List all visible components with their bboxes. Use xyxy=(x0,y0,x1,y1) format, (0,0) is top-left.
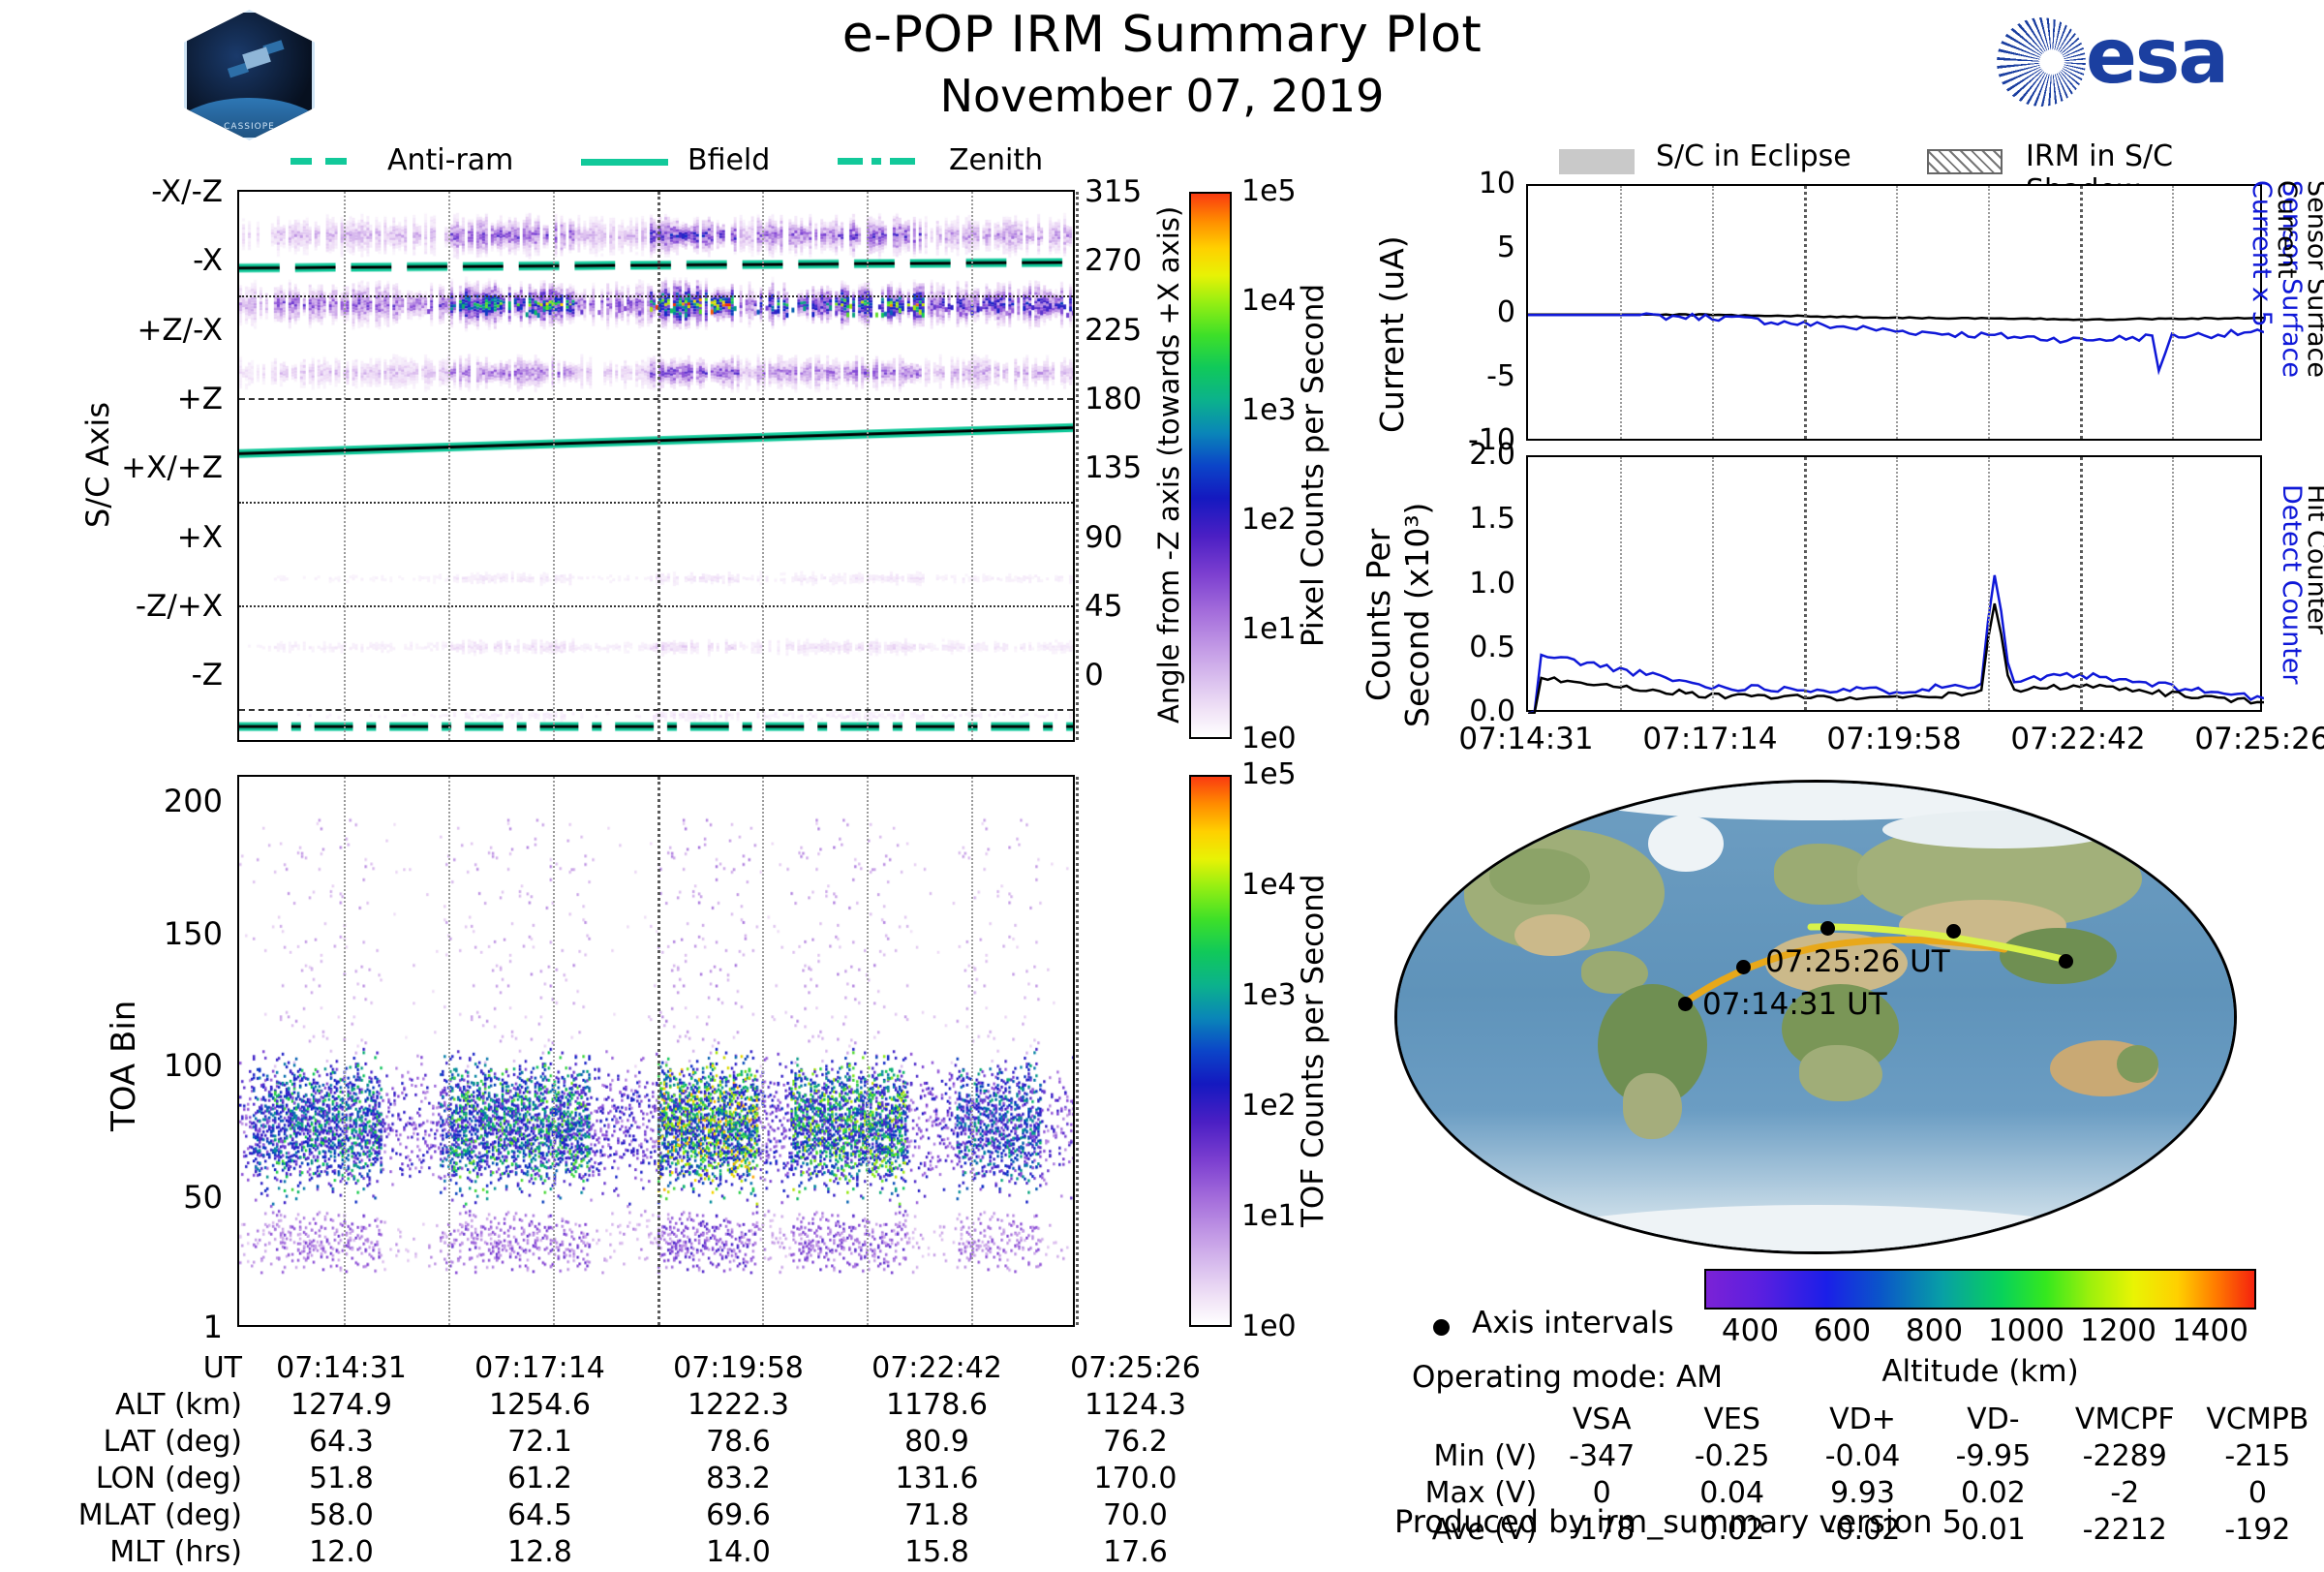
voltage-cell: -0.04 xyxy=(1797,1439,1928,1476)
ephemeris-cell: 1222.3 xyxy=(639,1388,838,1425)
current-right-label-black: Sensor Surface Current xyxy=(2299,180,2324,451)
pixel-colorbar-tick: 1e4 xyxy=(1241,284,1297,318)
axis-intervals-dot-icon xyxy=(1433,1319,1450,1336)
ephemeris-row-label: LAT (deg) xyxy=(58,1425,242,1462)
tof-colorbar-tick: 1e3 xyxy=(1241,978,1297,1012)
spectrogram-image xyxy=(239,192,1073,740)
counts-ytick: 1.0 xyxy=(1409,567,1515,601)
tof-colorbar-tick: 1e4 xyxy=(1241,868,1297,902)
voltage-column-header: VD+ xyxy=(1797,1402,1928,1439)
legend-swatch-shadow xyxy=(1927,149,2003,174)
voltage-cell: -0.25 xyxy=(1667,1439,1797,1476)
legend-swatch-bfield xyxy=(581,159,668,166)
toa-ytick: 1 xyxy=(136,1309,223,1345)
spectrogram-ytick-left: +X xyxy=(58,520,223,555)
voltage-column-header: VSA xyxy=(1537,1402,1667,1439)
ephemeris-cell: 1124.3 xyxy=(1036,1388,1235,1425)
legend-swatch-anti-ram xyxy=(290,151,347,170)
spectrogram-legend: Anti-ram Bfield Zenith xyxy=(290,143,1026,186)
ephemeris-cell: 51.8 xyxy=(242,1462,441,1498)
voltage-cell: -215 xyxy=(2191,1439,2324,1476)
toa-ytick: 50 xyxy=(136,1179,223,1216)
ephemeris-cell: 80.9 xyxy=(838,1425,1036,1462)
current-plot xyxy=(1526,184,2262,441)
tof-counts-colorbar-label: TOF Counts per Second xyxy=(1296,775,1334,1327)
ephemeris-cell: 83.2 xyxy=(639,1462,838,1498)
ephemeris-row-label: MLT (hrs) xyxy=(58,1535,242,1572)
ephemeris-cell: 69.6 xyxy=(639,1498,838,1535)
toa-ytick: 100 xyxy=(136,1047,223,1084)
ephemeris-row-label: MLAT (deg) xyxy=(58,1498,242,1535)
legend-swatch-zenith xyxy=(838,151,915,170)
ephemeris-cell: 17.6 xyxy=(1036,1535,1235,1572)
ephemeris-table: UT07:14:3107:17:1407:19:5807:22:4207:25:… xyxy=(58,1351,1235,1572)
voltage-cell: -347 xyxy=(1537,1439,1667,1476)
track-label-start: 07:14:31 UT xyxy=(1702,987,1887,1022)
ephemeris-cell: 131.6 xyxy=(838,1462,1036,1498)
spacer xyxy=(1394,1402,1537,1439)
spectrogram-ytick-left: +X/+Z xyxy=(58,450,223,485)
spectrogram-ytick-right: 45 xyxy=(1085,589,1152,624)
current-ytick: 10 xyxy=(1409,167,1515,200)
operating-mode-label: Operating mode: AM xyxy=(1412,1360,1723,1395)
pixel-colorbar-tick: 1e5 xyxy=(1241,174,1297,208)
legend-swatch-eclipse xyxy=(1559,149,1635,174)
counts-ytick: 0.5 xyxy=(1409,631,1515,664)
pixel-counts-colorbar-label: Pixel Counts per Second xyxy=(1296,194,1334,736)
ephemeris-cell: 64.3 xyxy=(242,1425,441,1462)
track-point xyxy=(1736,960,1751,974)
track-point-start xyxy=(1678,997,1693,1011)
spectrogram-ytick-left: -Z xyxy=(58,658,223,693)
ephemeris-cell: 170.0 xyxy=(1036,1462,1235,1498)
spectrogram-ytick-left: -Z/+X xyxy=(58,589,223,624)
badge-label: CASSIOPE xyxy=(187,122,312,132)
esa-swirl-icon xyxy=(1997,17,2086,107)
counts-ytick: 2.0 xyxy=(1409,438,1515,472)
ephemeris-cell: 15.8 xyxy=(838,1535,1036,1572)
ephemeris-row-label: ALT (km) xyxy=(58,1388,242,1425)
ephemeris-cell: 07:22:42 xyxy=(838,1351,1036,1388)
altitude-tick: 1200 xyxy=(2070,1313,2167,1348)
ephemeris-cell: 76.2 xyxy=(1036,1425,1235,1462)
footer-produced-by: Produced by irm_summary version 5 xyxy=(1394,1503,1962,1540)
tof-colorbar-tick: 1e1 xyxy=(1241,1199,1297,1233)
page-subtitle: November 07, 2019 xyxy=(0,70,2324,122)
legend-label-eclipse: S/C in Eclipse xyxy=(1656,139,1851,173)
ephemeris-cell: 72.1 xyxy=(441,1425,639,1462)
table-row: LAT (deg)64.372.178.680.976.2 xyxy=(58,1425,1235,1462)
pixel-colorbar-tick: 1e1 xyxy=(1241,612,1297,646)
altitude-colorbar-label: Altitude (km) xyxy=(1704,1354,2256,1389)
ephemeris-cell: 64.5 xyxy=(441,1498,639,1535)
altitude-colorbar xyxy=(1704,1269,2256,1310)
spectrogram-ytick-right: 90 xyxy=(1085,520,1152,555)
altitude-tick: 1400 xyxy=(2162,1313,2259,1348)
counts-ytick: 1.5 xyxy=(1409,502,1515,536)
current-ylabel: Current (uA) xyxy=(1373,194,1412,475)
ephemeris-cell: 12.8 xyxy=(441,1535,639,1572)
table-row: UT07:14:3107:17:1407:19:5807:22:4207:25:… xyxy=(58,1351,1235,1388)
toa-image xyxy=(239,777,1073,1325)
table-row: MLAT (deg)58.064.569.671.870.0 xyxy=(58,1498,1235,1535)
tof-colorbar-tick: 1e2 xyxy=(1241,1089,1297,1123)
table-row: MLT (hrs)12.012.814.015.817.6 xyxy=(58,1535,1235,1572)
tof-colorbar-tick: 1e5 xyxy=(1241,757,1297,791)
current-ytick: -5 xyxy=(1409,359,1515,393)
spectrogram-ytick-right: 225 xyxy=(1085,313,1152,348)
counts-plot xyxy=(1526,455,2262,712)
altitude-tick: 800 xyxy=(1886,1313,1983,1348)
ephemeris-cell: 12.0 xyxy=(242,1535,441,1572)
legend-label-zenith: Zenith xyxy=(949,143,1043,177)
voltage-column-header: VES xyxy=(1667,1402,1797,1439)
ephemeris-cell: 1178.6 xyxy=(838,1388,1036,1425)
ground-track-map: 07:25:26 UT 07:14:31 UT xyxy=(1394,780,2237,1254)
track-label-end: 07:25:26 UT xyxy=(1765,944,1950,979)
table-row: LON (deg)51.861.283.2131.6170.0 xyxy=(58,1462,1235,1498)
altitude-tick: 1000 xyxy=(1978,1313,2075,1348)
right-time-tick: 07:22:42 xyxy=(1996,722,2160,756)
tof-counts-colorbar xyxy=(1189,775,1232,1327)
esa-logo: esa xyxy=(1997,14,2297,110)
pixel-colorbar-tick: 1e3 xyxy=(1241,393,1297,427)
ephemeris-cell: 61.2 xyxy=(441,1462,639,1498)
spectrogram-ytick-right: 0 xyxy=(1085,658,1152,693)
ephemeris-cell: 78.6 xyxy=(639,1425,838,1462)
ephemeris-cell: 58.0 xyxy=(242,1498,441,1535)
ephemeris-cell: 1254.6 xyxy=(441,1388,639,1425)
counts-right-label-black: Hit Counter xyxy=(2299,484,2324,707)
voltage-cell: -2 xyxy=(2059,1476,2191,1513)
shade-legend: S/C in Eclipse IRM in S/C Shadow xyxy=(1559,141,2295,184)
axis-intervals-label: Axis intervals xyxy=(1472,1306,1674,1341)
tof-colorbar-tick: 1e0 xyxy=(1241,1310,1297,1343)
right-time-tick: 07:17:14 xyxy=(1628,722,1792,756)
pixel-counts-colorbar xyxy=(1189,192,1232,739)
ephemeris-row-label: LON (deg) xyxy=(58,1462,242,1498)
spectrogram-ytick-left: -X/-Z xyxy=(58,174,223,209)
voltage-cell: -192 xyxy=(2191,1513,2324,1550)
track-point xyxy=(1820,921,1835,936)
pixel-colorbar-tick: 1e2 xyxy=(1241,503,1297,537)
ephemeris-cell: 14.0 xyxy=(639,1535,838,1572)
ephemeris-cell: 70.0 xyxy=(1036,1498,1235,1535)
spectrogram-ytick-right: 180 xyxy=(1085,382,1152,416)
altitude-tick: 600 xyxy=(1794,1313,1891,1348)
ephemeris-cell: 07:19:58 xyxy=(639,1351,838,1388)
legend-label-bfield: Bfield xyxy=(688,143,770,177)
spectrogram-ytick-right: 135 xyxy=(1085,450,1152,485)
legend-label-anti-ram: Anti-ram xyxy=(387,143,513,177)
ephemeris-cell: 07:14:31 xyxy=(242,1351,441,1388)
altitude-tick: 400 xyxy=(1702,1313,1799,1348)
current-ytick: 5 xyxy=(1409,231,1515,264)
spectrogram-ytick-right: 270 xyxy=(1085,243,1152,278)
cassiope-mission-badge: CASSIOPE xyxy=(184,10,315,140)
spectrogram-ylabel-right: Angle from -Z axis (towards +X axis) xyxy=(1152,194,1191,736)
toa-ytick: 200 xyxy=(136,783,223,819)
voltage-cell: -2289 xyxy=(2059,1439,2191,1476)
voltage-column-header: VCMPB xyxy=(2191,1402,2324,1439)
track-point xyxy=(1946,924,1961,939)
ephemeris-row-label: UT xyxy=(58,1351,242,1388)
right-time-tick: 07:25:26 xyxy=(2180,722,2324,756)
esa-wordmark: esa xyxy=(2086,19,2227,95)
current-ytick: 0 xyxy=(1409,295,1515,329)
voltage-cell: -9.95 xyxy=(1928,1439,2059,1476)
track-point-end xyxy=(2059,954,2073,969)
spectrogram-ytick-left: +Z/-X xyxy=(58,313,223,348)
ephemeris-cell: 07:25:26 xyxy=(1036,1351,1235,1388)
table-header-row: VSAVESVD+VD-VMCPFVCMPB xyxy=(1394,1402,2324,1439)
ephemeris-cell: 71.8 xyxy=(838,1498,1036,1535)
right-time-tick: 07:14:31 xyxy=(1444,722,1608,756)
spectrogram-ytick-left: -X xyxy=(58,243,223,278)
right-time-tick: 07:19:58 xyxy=(1812,722,1976,756)
table-row: Min (V)-347-0.25-0.04-9.95-2289-215 xyxy=(1394,1439,2324,1476)
ephemeris-cell: 1274.9 xyxy=(242,1388,441,1425)
table-row: ALT (km)1274.91254.61222.31178.61124.3 xyxy=(58,1388,1235,1425)
pixel-colorbar-tick: 1e0 xyxy=(1241,722,1297,755)
voltage-column-header: VD- xyxy=(1928,1402,2059,1439)
toa-ytick: 150 xyxy=(136,915,223,952)
spectrogram-plot xyxy=(237,190,1075,742)
voltage-cell: -2212 xyxy=(2059,1513,2191,1550)
voltage-cell: 0 xyxy=(2191,1476,2324,1513)
toa-plot xyxy=(237,775,1075,1327)
page-title: e-POP IRM Summary Plot xyxy=(0,6,2324,64)
ephemeris-cell: 07:17:14 xyxy=(441,1351,639,1388)
spectrogram-ytick-left: +Z xyxy=(58,382,223,416)
spectrogram-ytick-right: 315 xyxy=(1085,174,1152,209)
voltage-column-header: VMCPF xyxy=(2059,1402,2191,1439)
voltage-row-label: Min (V) xyxy=(1394,1439,1537,1476)
